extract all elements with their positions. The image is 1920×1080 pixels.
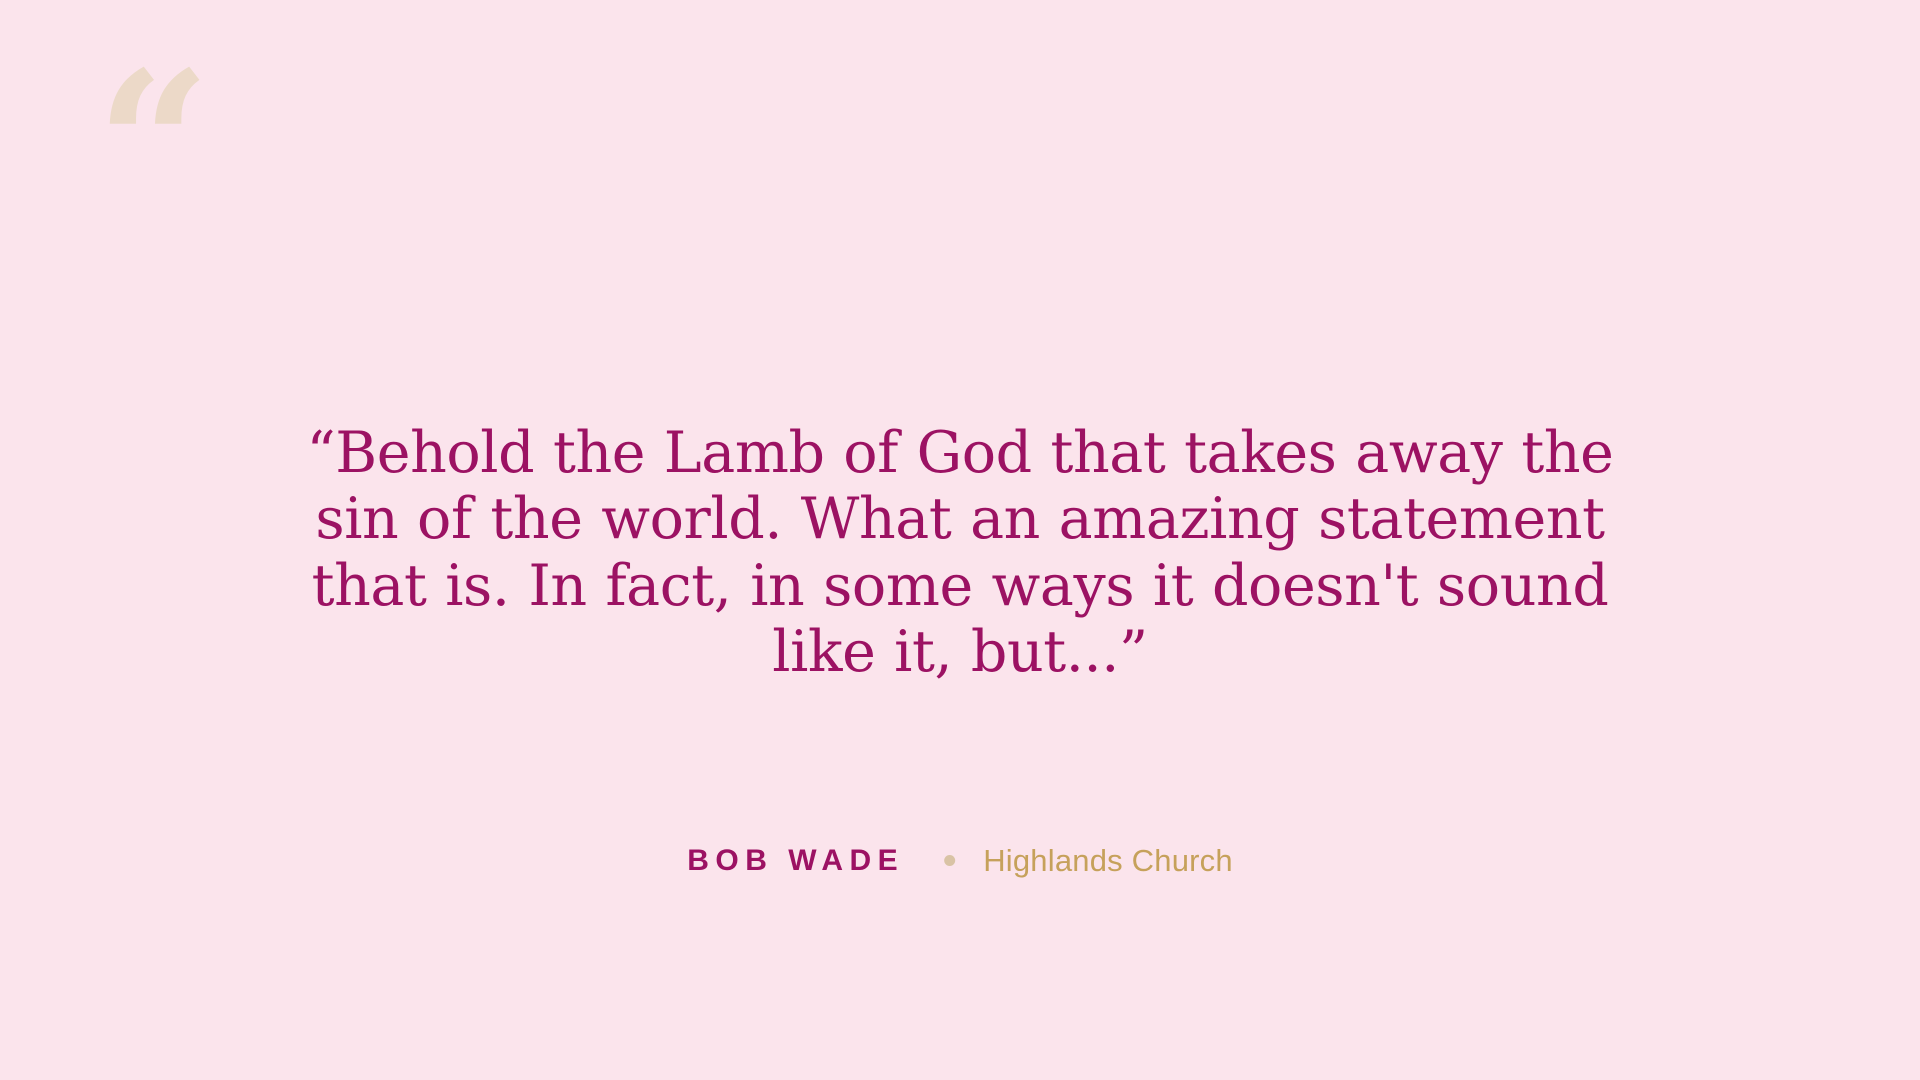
quote-card: “ “Behold the Lamb of God that takes awa… [0, 0, 1920, 1080]
quote-block: “Behold the Lamb of God that takes away … [290, 420, 1630, 686]
bullet-separator-icon [944, 855, 955, 866]
decorative-quote-icon: “ [96, 46, 205, 246]
speaker-name: BOB WADE [687, 846, 904, 876]
attribution: BOB WADE Highlands Church [687, 845, 1233, 876]
organization-name: Highlands Church [983, 845, 1233, 876]
quote-text: “Behold the Lamb of God that takes away … [290, 420, 1630, 686]
